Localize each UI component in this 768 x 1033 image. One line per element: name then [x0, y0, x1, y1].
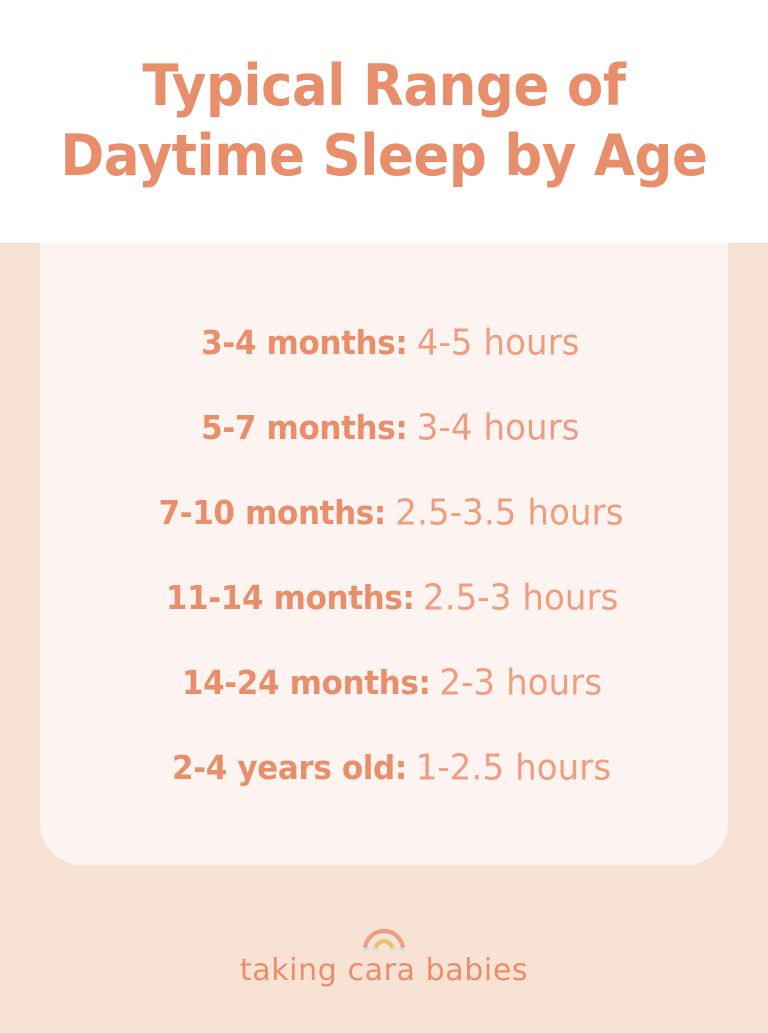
brand-name: taking cara babies — [240, 956, 528, 986]
sleep-range-list: 3-4 months: 4-5 hours 5-7 months: 3-4 ho… — [40, 243, 728, 810]
page-title: Typical Range of Daytime Sleep by Age — [42, 52, 726, 191]
header-band: Typical Range of Daytime Sleep by Age — [0, 0, 768, 243]
list-item: 11-14 months: 2.5-3 hours — [40, 555, 728, 640]
sleep-hours-value: 3-4 hours — [417, 407, 580, 449]
list-item: 2-4 years old: 1-2.5 hours — [40, 725, 728, 810]
age-range-label: 11-14 months: — [165, 578, 414, 617]
sleep-hours-value: 2-3 hours — [439, 662, 602, 704]
list-item: 5-7 months: 3-4 hours — [40, 385, 728, 470]
age-range-label: 3-4 months: — [202, 323, 408, 362]
age-range-label: 7-10 months: — [159, 493, 386, 532]
age-range-label: 14-24 months: — [182, 663, 431, 702]
list-item: 14-24 months: 2-3 hours — [40, 640, 728, 725]
footer-brand: taking cara babies — [0, 865, 768, 1033]
age-range-label: 5-7 months: — [202, 408, 408, 447]
sleep-hours-value: 4-5 hours — [417, 322, 580, 364]
list-item: 3-4 months: 4-5 hours — [40, 300, 728, 385]
age-range-label: 2-4 years old: — [172, 748, 407, 787]
sleep-hours-value: 1-2.5 hours — [416, 747, 611, 789]
list-item: 7-10 months: 2.5-3.5 hours — [40, 470, 728, 555]
rainbow-icon — [362, 923, 406, 951]
content-panel: 3-4 months: 4-5 hours 5-7 months: 3-4 ho… — [40, 243, 728, 865]
sleep-hours-value: 2.5-3 hours — [423, 577, 618, 619]
sleep-hours-value: 2.5-3.5 hours — [395, 492, 623, 534]
